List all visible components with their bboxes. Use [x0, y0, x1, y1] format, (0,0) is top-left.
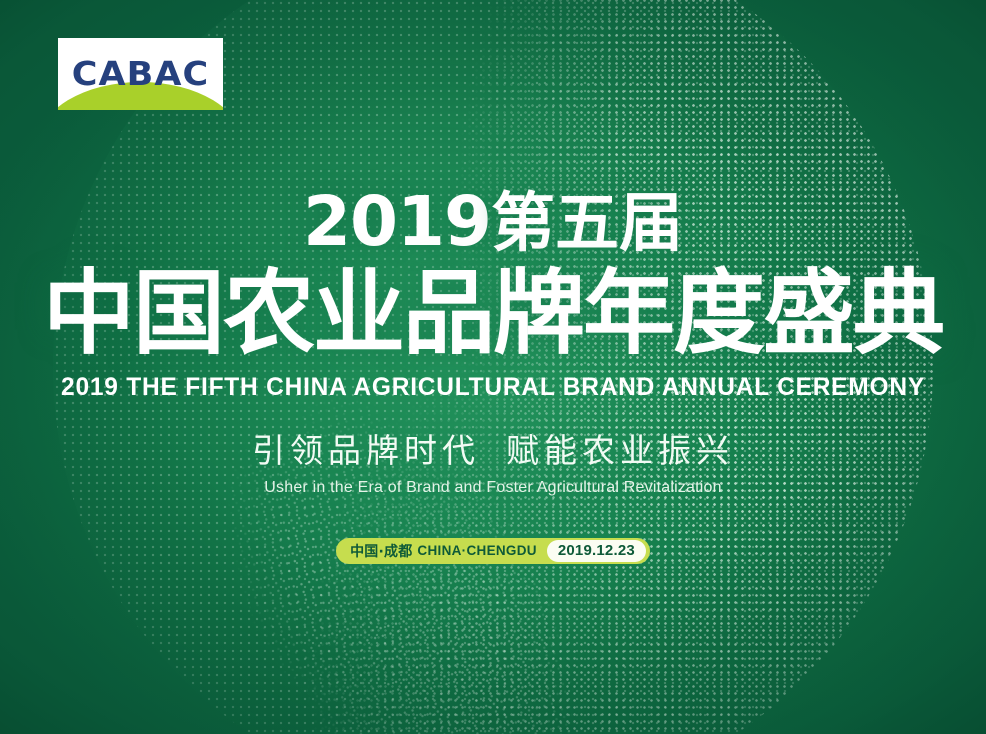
poster-content: 2019第五届 中国农业品牌年度盛典 2019 THE FIFTH CHINA …	[0, 0, 986, 564]
title-edition: 第五届	[491, 187, 683, 261]
slogan-chinese-part1: 引领品牌时代	[252, 431, 480, 470]
page-title: 中国农业品牌年度盛典	[0, 267, 986, 361]
venue-date-badge: 中国·成都 CHINA·CHENGDU 2019.12.23	[336, 538, 650, 564]
venue-label: 中国·成都 CHINA·CHENGDU	[336, 538, 547, 564]
venue-chinese: 中国·成都	[350, 541, 412, 561]
event-date: 2019.12.23	[547, 540, 646, 562]
event-poster: CABAC 2019第五届 中国农业品牌年度盛典 2019 THE FIFTH …	[0, 0, 986, 734]
slogan-chinese-part2: 赋能农业振兴	[506, 431, 734, 470]
title-year: 2019	[303, 182, 491, 262]
title-english: 2019 THE FIFTH CHINA AGRICULTURAL BRAND …	[10, 375, 976, 400]
slogan-chinese: 引领品牌时代赋能农业振兴	[0, 434, 986, 467]
badge-row: 中国·成都 CHINA·CHENGDU 2019.12.23	[0, 496, 986, 564]
title-year-line: 2019第五届	[0, 188, 986, 257]
venue-english: CHINA·CHENGDU	[417, 543, 536, 558]
slogan-english: Usher in the Era of Brand and Foster Agr…	[0, 480, 986, 496]
